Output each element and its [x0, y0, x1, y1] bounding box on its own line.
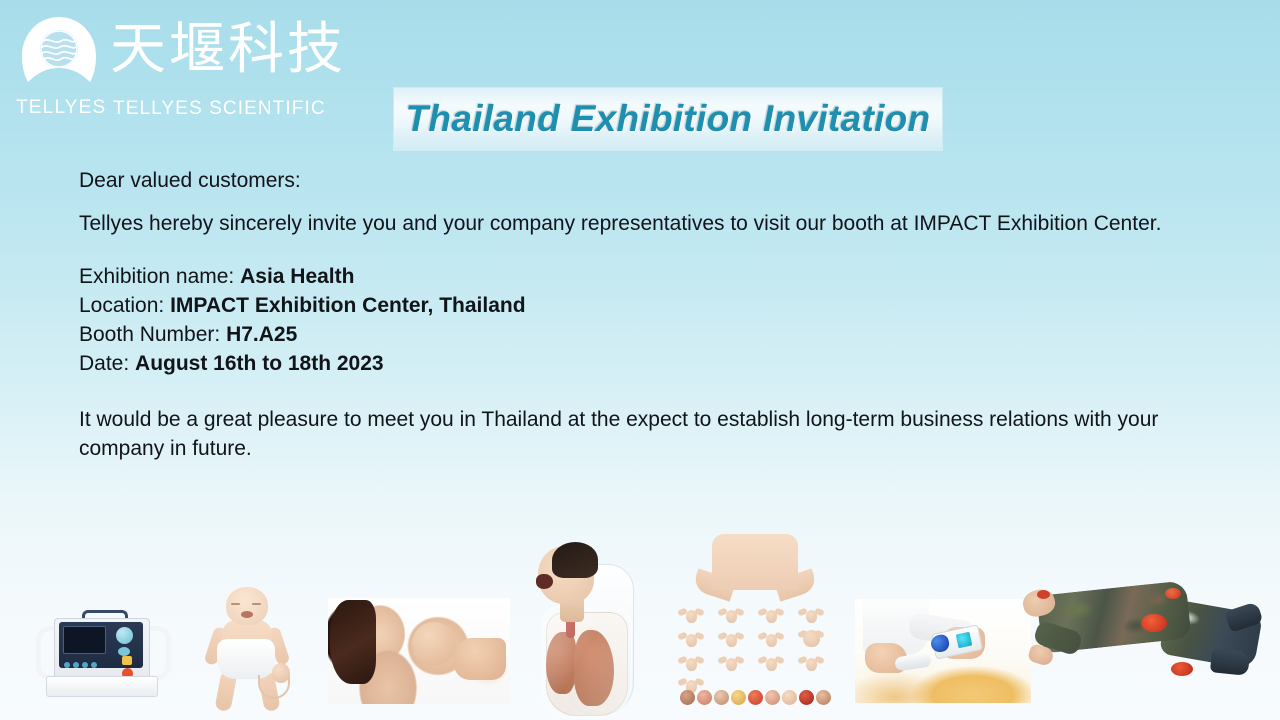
- transparent-chest-cover: [542, 606, 632, 718]
- spacer: [79, 238, 1219, 262]
- uterus-model: [678, 656, 704, 674]
- infant-diaper: [217, 639, 275, 679]
- product-defibrillator-monitor: [36, 608, 166, 698]
- cervix-insert: [680, 690, 695, 705]
- detail-value: August 16th to 18th 2023: [135, 352, 384, 375]
- defib-secondary-dial: [118, 647, 130, 656]
- product-fetal-ultrasound-simulation: [855, 599, 1031, 703]
- slide-title-box: Thailand Exhibition Invitation: [394, 88, 942, 150]
- cervix-insert-row: [680, 690, 836, 708]
- product-gynecological-uterus-model-set: [672, 530, 842, 720]
- baby-head: [412, 622, 456, 666]
- trauma-wound-hip: [1141, 614, 1167, 632]
- uterus-model: [798, 656, 824, 674]
- invitation-letter-body: Dear valued customers: Tellyes hereby si…: [79, 166, 1219, 463]
- defib-base-unit: [46, 676, 158, 697]
- infant-eye-right: [252, 603, 261, 605]
- letter-closing: It would be a great pleasure to meet you…: [79, 405, 1189, 463]
- uterus-model: [718, 656, 744, 674]
- trauma-wound-arm: [1165, 588, 1181, 599]
- product-infant-cpr-manikin: [200, 587, 295, 712]
- cervix-insert: [816, 690, 831, 705]
- brand-name-english: TELLYES SCIENTIFIC: [113, 98, 326, 120]
- letter-intro: Tellyes hereby sincerely invite you and …: [79, 209, 1219, 238]
- infant-head: [226, 587, 268, 625]
- detail-booth-number: Booth Number: H7.A25: [79, 320, 1219, 349]
- uterus-model: [758, 632, 784, 650]
- product-airway-intubation-lung-model: [524, 542, 644, 720]
- brand-logo-block: TELLYES 天堰科技 TELLYES SCIENTIFIC: [10, 14, 330, 119]
- uterus-model: [678, 632, 704, 650]
- cervix-insert: [697, 690, 712, 705]
- invitation-slide: TELLYES 天堰科技 TELLYES SCIENTIFIC Thailand…: [0, 0, 1280, 720]
- detail-label: Booth Number:: [79, 323, 226, 346]
- spacer: [79, 195, 1219, 209]
- letter-salutation: Dear valued customers:: [79, 166, 1219, 195]
- uterus-model: [678, 608, 704, 626]
- infant-mouth: [241, 611, 253, 618]
- logo-caption: TELLYES: [16, 98, 104, 118]
- airway-open-mouth: [536, 574, 553, 589]
- trauma-wound-head: [1037, 590, 1050, 599]
- tellyes-person-wave-logo-icon: [15, 16, 103, 96]
- pelvis-torso-model: [712, 534, 798, 590]
- device-screen: [956, 632, 973, 649]
- defib-soft-buttons: [64, 655, 102, 661]
- airway-hair: [552, 542, 598, 578]
- detail-value: Asia Health: [240, 265, 354, 288]
- product-breastfeeding-training-model: [328, 598, 510, 704]
- uterus-model: [718, 632, 744, 650]
- trauma-wound-leg: [1171, 662, 1193, 676]
- cervix-insert: [731, 690, 746, 705]
- spacer: [79, 378, 1219, 405]
- detail-location: Location: IMPACT Exhibition Center, Thai…: [79, 291, 1219, 320]
- uterus-model: [718, 608, 744, 626]
- detail-exhibition-name: Exhibition name: Asia Health: [79, 262, 1219, 291]
- uterus-model: [798, 608, 824, 626]
- supporting-hand: [454, 638, 506, 680]
- brand-name-chinese: 天堰科技: [110, 20, 346, 80]
- model-hair: [330, 600, 376, 684]
- cervix-insert: [714, 690, 729, 705]
- detail-label: Location:: [79, 294, 170, 317]
- uterus-model: [758, 608, 784, 626]
- infant-eye-left: [231, 603, 240, 605]
- defib-display-screen: [63, 626, 106, 654]
- detail-label: Exhibition name:: [79, 265, 240, 288]
- cervix-insert: [799, 690, 814, 705]
- cervix-insert: [782, 690, 797, 705]
- uterus-model: [758, 656, 784, 674]
- detail-date: Date: August 16th to 18th 2023: [79, 349, 1219, 378]
- uterus-model-enlarged: [798, 630, 824, 648]
- cervix-insert: [748, 690, 763, 705]
- defib-charge-button: [122, 656, 132, 665]
- detail-value: IMPACT Exhibition Center, Thailand: [170, 294, 525, 317]
- trauma-boot-lower: [1210, 648, 1250, 676]
- product-military-trauma-casualty-manikin: [1013, 564, 1267, 714]
- detail-label: Date:: [79, 352, 135, 375]
- detail-value: H7.A25: [226, 323, 297, 346]
- uterus-model-grid: [678, 608, 838, 680]
- defib-energy-dial: [116, 627, 133, 644]
- cervix-insert: [765, 690, 780, 705]
- product-image-strip: [0, 520, 1280, 720]
- infant-inflation-bulb: [272, 663, 290, 683]
- page-title: Thailand Exhibition Invitation: [394, 88, 942, 150]
